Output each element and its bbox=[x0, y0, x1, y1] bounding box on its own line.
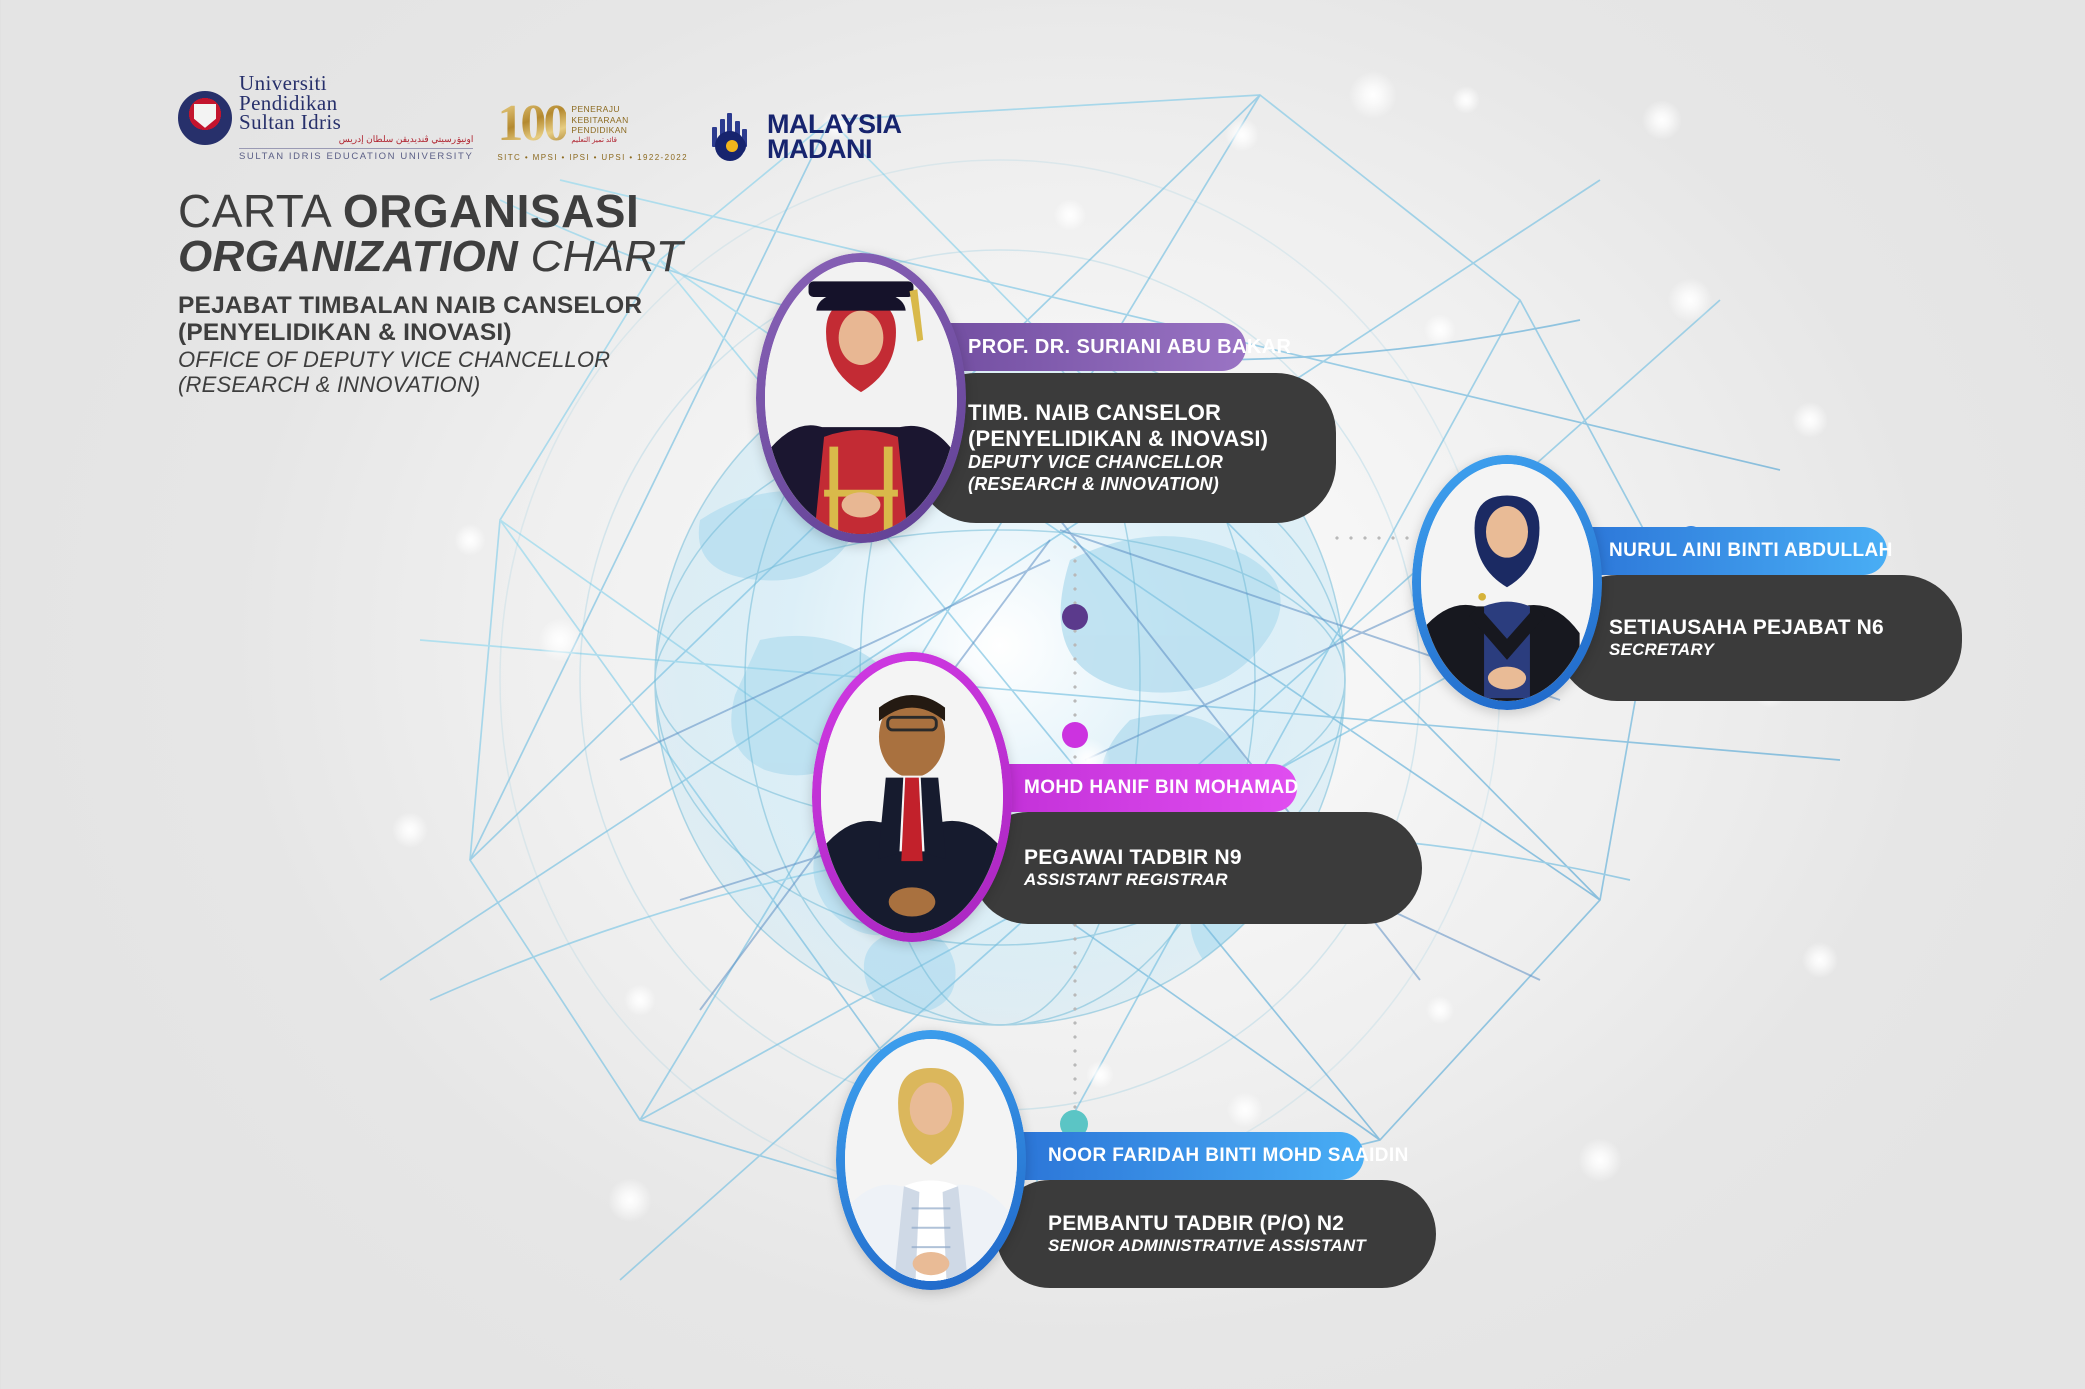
centenary-number: 100 bbox=[497, 98, 566, 150]
role-en-line1: ASSISTANT REGISTRAR bbox=[1024, 870, 1422, 891]
org-node-senior-administrative-assistant[interactable]: PEMBANTU TADBIR (P/O) N2 SENIOR ADMINIST… bbox=[836, 1030, 1306, 1300]
person-name: NURUL AINI BINTI ABDULLAH bbox=[1609, 540, 1893, 562]
header-block: Universiti Pendidikan Sultan Idris اونيۏ… bbox=[178, 78, 902, 397]
centenary-logo: 100 PENERAJU KEBITARAAN PENDIDIKAN قائد … bbox=[497, 98, 688, 162]
role-en-line1: DEPUTY VICE CHANCELLOR bbox=[968, 452, 1336, 474]
role-en-line1: SENIOR ADMINISTRATIVE ASSISTANT bbox=[1048, 1236, 1436, 1257]
person-name: MOHD HANIF BIN MOHAMAD bbox=[1024, 777, 1299, 799]
upsi-crest-icon bbox=[178, 91, 232, 145]
title-organization: ORGANIZATION bbox=[178, 232, 518, 281]
role-ms-line1: SETIAUSAHA PEJABAT N6 bbox=[1609, 615, 1962, 640]
centenary-arabic: قائد تميز التعليم bbox=[571, 136, 628, 144]
centenary-footer: SITC • MPSI • IPSI • UPSI • 1922-2022 bbox=[497, 153, 688, 162]
office-en-line2: (RESEARCH & INNOVATION) bbox=[178, 372, 902, 397]
role-card-secretary: SETIAUSAHA PEJABAT N6 SECRETARY bbox=[1557, 575, 1962, 701]
dot-purple bbox=[1062, 604, 1088, 630]
role-ms-line1: PEMBANTU TADBIR (P/O) N2 bbox=[1048, 1211, 1436, 1236]
logo-row: Universiti Pendidikan Sultan Idris اونيۏ… bbox=[178, 78, 902, 162]
role-en-line2: (RESEARCH & INNOVATION) bbox=[968, 474, 1336, 496]
office-ms-line2: (PENYELIDIKAN & INOVASI) bbox=[178, 319, 902, 346]
role-card-deputy-vice-chancellor: TIMB. NAIB CANSELOR (PENYELIDIKAN & INOV… bbox=[916, 373, 1336, 523]
upsi-line3: Sultan Idris bbox=[239, 113, 473, 133]
office-name-block: PEJABAT TIMBALAN NAIB CANSELOR (PENYELID… bbox=[178, 292, 902, 397]
centenary-side-line3: PENDIDIKAN bbox=[571, 125, 628, 135]
madani-line2: MADANI bbox=[767, 137, 902, 162]
role-card-senior-administrative-assistant: PEMBANTU TADBIR (P/O) N2 SENIOR ADMINIST… bbox=[996, 1180, 1436, 1288]
person-name: PROF. DR. SURIANI ABU BAKAR bbox=[968, 336, 1291, 359]
name-pill-assistant-registrar: MOHD HANIF BIN MOHAMAD bbox=[972, 764, 1297, 812]
upsi-tagline: SULTAN IDRIS EDUCATION UNIVERSITY bbox=[239, 148, 473, 162]
page-title-ms: CARTA ORGANISASI bbox=[178, 188, 902, 235]
upsi-arabic: اونيۏرسيتي ڤنديديقن سلطان إدريس bbox=[239, 134, 473, 145]
centenary-side-line1: PENERAJU bbox=[571, 104, 628, 114]
role-ms-line1: TIMB. NAIB CANSELOR bbox=[968, 400, 1336, 426]
page-title-en: ORGANIZATION CHART bbox=[178, 235, 902, 280]
role-ms-line2: (PENYELIDIKAN & INOVASI) bbox=[968, 426, 1336, 452]
office-en-line1: OFFICE OF DEPUTY VICE CHANCELLOR bbox=[178, 347, 902, 372]
centenary-side-line2: KEBITARAAN bbox=[571, 115, 628, 125]
name-pill-senior-administrative-assistant: NOOR FARIDAH BINTI MOHD SAAIDIN bbox=[996, 1132, 1364, 1180]
title-chart: CHART bbox=[518, 232, 683, 281]
title-organisasi: ORGANISASI bbox=[343, 185, 639, 237]
org-node-assistant-registrar[interactable]: PEGAWAI TADBIR N9 ASSISTANT REGISTRAR MO… bbox=[812, 652, 1292, 952]
title-carta: CARTA bbox=[178, 185, 343, 237]
avatar-secretary bbox=[1412, 455, 1602, 710]
name-pill-deputy-vice-chancellor: PROF. DR. SURIANI ABU BAKAR bbox=[916, 323, 1246, 371]
role-ms-line1: PEGAWAI TADBIR N9 bbox=[1024, 845, 1422, 870]
role-en-line1: SECRETARY bbox=[1609, 640, 1962, 661]
avatar-senior-administrative-assistant bbox=[836, 1030, 1026, 1290]
name-pill-secretary: NURUL AINI BINTI ABDULLAH bbox=[1557, 527, 1887, 575]
avatar-assistant-registrar bbox=[812, 652, 1012, 942]
org-node-secretary[interactable]: SETIAUSAHA PEJABAT N6 SECRETARY NURUL AI… bbox=[1412, 455, 1852, 715]
role-card-assistant-registrar: PEGAWAI TADBIR N9 ASSISTANT REGISTRAR bbox=[972, 812, 1422, 924]
malaysia-madani-logo: MALAYSIA MADANI bbox=[712, 112, 902, 162]
person-name: NOOR FARIDAH BINTI MOHD SAAIDIN bbox=[1048, 1145, 1409, 1167]
office-ms-line1: PEJABAT TIMBALAN NAIB CANSELOR bbox=[178, 292, 902, 319]
upsi-logo: Universiti Pendidikan Sultan Idris اونيۏ… bbox=[178, 74, 473, 162]
madani-mark-icon bbox=[712, 113, 758, 161]
